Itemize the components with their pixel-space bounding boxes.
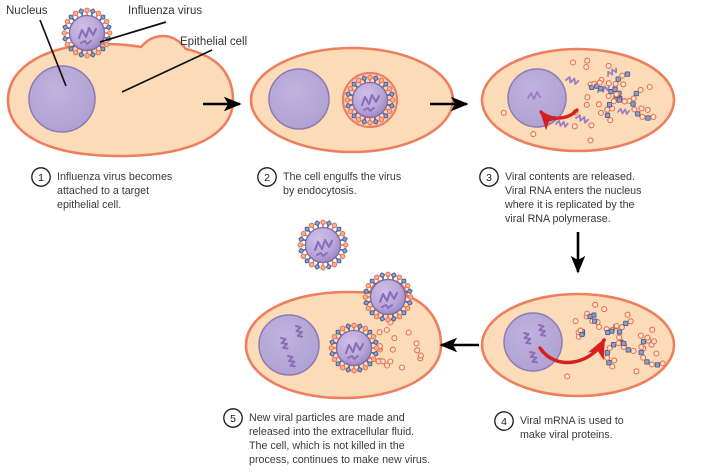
step-4-line-1: Viral mRNA is used to bbox=[520, 415, 624, 427]
step-1-line-2: attached to a target bbox=[57, 185, 149, 197]
step-1-line-1: Influenza virus becomes bbox=[57, 171, 172, 183]
step-badge-4-number: 4 bbox=[501, 416, 507, 428]
step-2-line-2: by endocytosis. bbox=[283, 185, 357, 197]
influenza-virus-particle-5-intracellular bbox=[329, 323, 379, 373]
label-influenza-virus: Influenza virus bbox=[128, 5, 202, 17]
diagram-canvas: { "title": "Influenza virus replication … bbox=[0, 0, 702, 472]
label-nucleus: Nucleus bbox=[6, 5, 48, 17]
step-3-line-2: Viral RNA enters the nucleus bbox=[505, 185, 641, 197]
step-badge-2-number: 2 bbox=[264, 172, 270, 184]
step-5-line-2: released into the extracellular fluid. bbox=[249, 426, 414, 438]
step-badge-3-number: 3 bbox=[486, 172, 492, 184]
step-4-caption: 4 Viral mRNA is used to make viral prote… bbox=[495, 412, 624, 441]
step-5-caption: 5 New viral particles are made and relea… bbox=[224, 409, 430, 466]
step-1-caption: 1 Influenza virus becomes attached to a … bbox=[32, 168, 172, 211]
step-3-panel bbox=[482, 49, 674, 151]
influenza-virus-particle-5-budding bbox=[363, 272, 413, 322]
step-5-line-4: process, continues to make new virus. bbox=[249, 454, 430, 466]
step-3-line-4: viral RNA polymerase. bbox=[505, 213, 611, 225]
replication-cycle-svg: Nucleus Influenza virus Epithelial cell bbox=[0, 0, 702, 472]
step-2-line-1: The cell engulfs the virus bbox=[283, 171, 401, 183]
step-1-line-3: epithelial cell. bbox=[57, 199, 121, 211]
nucleus-2 bbox=[269, 69, 329, 129]
step-4-line-2: make viral proteins. bbox=[520, 429, 613, 441]
step-badge-5-number: 5 bbox=[230, 413, 236, 425]
step-5-line-1: New viral particles are made and bbox=[249, 412, 405, 424]
nucleus-5 bbox=[259, 315, 319, 375]
step-3-line-1: Viral contents are released. bbox=[505, 171, 635, 183]
step-3-line-3: where it is replicated by the bbox=[504, 199, 635, 211]
influenza-virus-particle-released bbox=[298, 220, 348, 270]
step-2-caption: 2 The cell engulfs the virus by endocyto… bbox=[258, 168, 401, 197]
step-3-caption: 3 Viral contents are released. Viral RNA… bbox=[480, 168, 642, 225]
step-badge-1-number: 1 bbox=[38, 172, 44, 184]
label-epithelial-cell: Epithelial cell bbox=[180, 36, 247, 48]
step-4-panel bbox=[482, 294, 674, 396]
step-1-panel bbox=[8, 36, 233, 156]
influenza-virus-particle-1 bbox=[62, 8, 112, 58]
influenza-virus-particle-2 bbox=[345, 75, 395, 125]
step-5-line-3: The cell, which is not killed in the bbox=[249, 440, 405, 452]
